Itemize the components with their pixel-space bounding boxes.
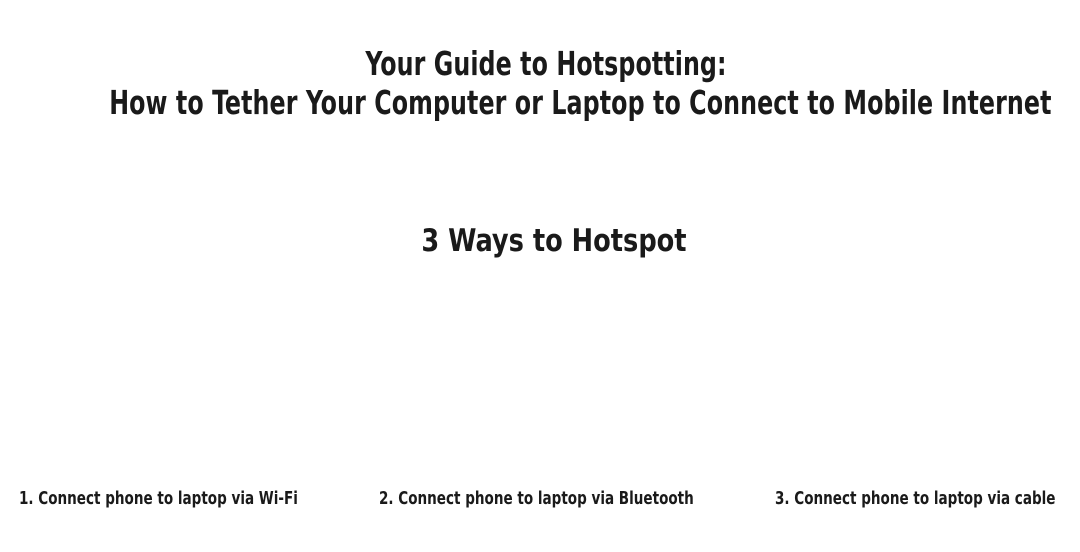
section-heading: 3 Ways to Hotspot [44,222,1063,260]
step-illustration-cable [775,285,1065,475]
step-illustration-wifi [19,285,319,475]
step-caption-cable: 3. Connect phone to laptop via cable [775,487,1055,511]
step-illustration-bluetooth [379,285,709,475]
step-caption-bluetooth: 2. Connect phone to laptop via Bluetooth [379,487,694,511]
step-caption-wifi: 1. Connect phone to laptop via Wi-Fi [19,487,298,511]
page-title: Your Guide to Hotspotting: How to Tether… [0,44,1080,122]
page-title-line-2: How to Tether Your Computer or Laptop to… [109,83,983,122]
page-title-line-1: Your Guide to Hotspotting: [109,44,983,83]
step-captions: 1. Connect phone to laptop via Wi-Fi 2. … [0,487,1080,515]
infographic-page: Your Guide to Hotspotting: How to Tether… [0,0,1080,552]
illustration-band [0,285,1080,475]
